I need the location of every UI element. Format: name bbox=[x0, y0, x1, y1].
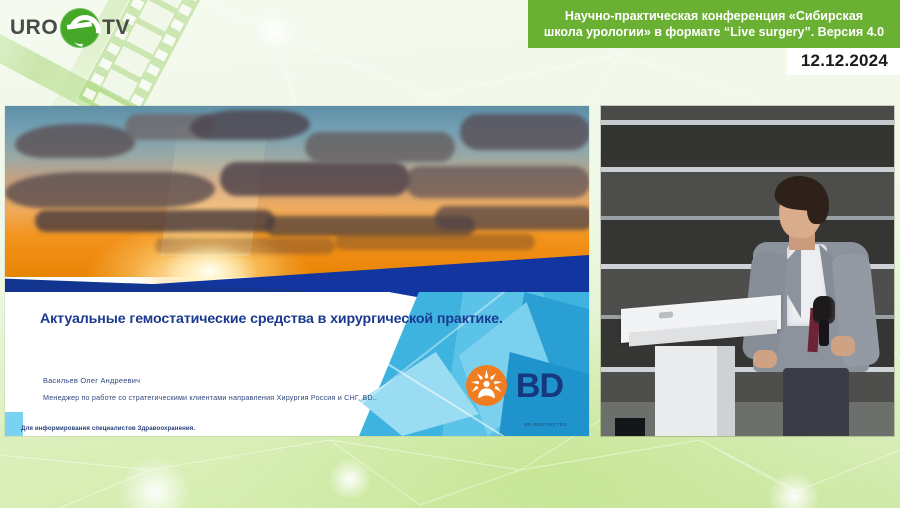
conference-title-banner: Научно-практическая конференция «Сибирск… bbox=[528, 0, 900, 48]
glow-dot bbox=[770, 468, 818, 508]
cyan-left-tab bbox=[5, 412, 23, 436]
urotv-logo: URO TV bbox=[10, 8, 130, 48]
slide-disclaimer: Для информирования специалистов Здравоох… bbox=[21, 425, 195, 432]
bd-sunburst-icon bbox=[466, 365, 507, 406]
logo-text-suffix: TV bbox=[102, 16, 130, 40]
bd-logo: BD bbox=[466, 365, 563, 406]
logo-text-prefix: URO bbox=[10, 16, 58, 40]
conference-title-line2: школа урологии» в формате “Live surgery”… bbox=[544, 24, 884, 41]
confidentiality-label: BD-RESTRICTED bbox=[524, 422, 567, 427]
urotv-emblem-icon bbox=[60, 8, 100, 48]
sunset-photo bbox=[5, 106, 589, 277]
bd-wordmark: BD bbox=[516, 369, 563, 403]
speaker-name: Васильев Олег Андреевич bbox=[43, 376, 140, 385]
speaker-role: Менеджер по работе со стратегическими кл… bbox=[43, 393, 377, 402]
presentation-slide: Актуальные гемостатические средства в хи… bbox=[5, 106, 589, 436]
slide-title: Актуальные гемостатические средства в хи… bbox=[40, 311, 503, 327]
conference-title-line1: Научно-практическая конференция «Сибирск… bbox=[565, 8, 863, 25]
glow-dot bbox=[330, 455, 370, 503]
date-badge: 12.12.2024 bbox=[787, 48, 900, 75]
speaker-video-feed bbox=[601, 106, 894, 436]
glow-dot bbox=[120, 452, 190, 508]
glow-dot bbox=[252, 10, 296, 54]
